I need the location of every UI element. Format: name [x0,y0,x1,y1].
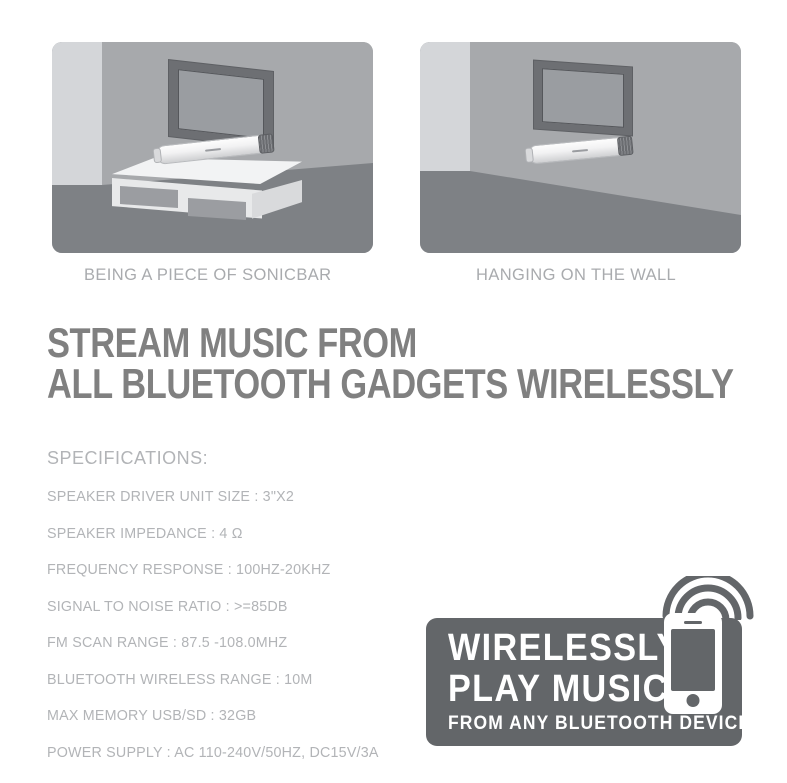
soundbar-left-cap [153,148,163,164]
stand-side-face [252,180,302,226]
spec-power-supply: POWER SUPPLY : AC 110-240V/50HZ, DC15V/3… [47,745,467,761]
smartphone-icon [664,613,722,714]
headline-line-1: STREAM MUSIC FROM [47,322,734,363]
room-scene-wall-mounted [420,42,741,253]
panel-caption-1: BEING A PIECE OF SONICBAR [84,266,331,285]
soundbar-right-cap [617,136,634,156]
tv-stand [112,158,302,236]
phone-home-button [687,694,700,707]
phone-screen [671,629,715,691]
illustration-panels: BEING A PIECE OF SONICBAR HANGING ON THE… [0,0,787,300]
spec-frequency-response: FREQUENCY RESPONSE : 100HZ-20KHZ [47,562,467,578]
badge-line-3: FROM ANY BLUETOOTH DEVICE [448,712,751,736]
specifications-section: SPECIFICATIONS: SPEAKER DRIVER UNIT SIZE… [47,448,467,781]
headline-line-2: ALL BLUETOOTH GADGETS WIRELESSLY [47,363,734,404]
panel-hanging-on-the-wall [420,42,741,253]
stand-top-surface [112,158,302,184]
spec-speaker-driver-unit-size: SPEAKER DRIVER UNIT SIZE : 3"X2 [47,489,467,505]
specifications-title: SPECIFICATIONS: [47,448,467,469]
badge-text-block: WIRELESSLY PLAY MUSIC FROM ANY BLUETOOTH… [448,628,777,736]
panel-caption-2: HANGING ON THE WALL [476,266,676,285]
soundbar-logo [205,148,221,152]
phone-earpiece [684,621,702,624]
television-icon [534,61,632,136]
spec-max-memory: MAX MEMORY USB/SD : 32GB [47,708,467,724]
spec-speaker-impedance: SPEAKER IMPEDANCE : 4 Ω [47,526,467,542]
spec-bluetooth-wireless-range: BLUETOOTH WIRELESS RANGE : 10M [47,672,467,688]
spec-signal-to-noise-ratio: SIGNAL TO NOISE RATIO : >=85DB [47,599,467,615]
soundbar-right-cap [258,133,275,154]
tv-screen [178,69,264,139]
panel-being-a-piece-of-sonicbar [52,42,373,253]
soundbar-left-cap [525,147,534,163]
soundbar-logo [572,149,588,153]
spec-fm-scan-range: FM SCAN RANGE : 87.5 -108.0MHZ [47,635,467,651]
room-scene-tv-stand [52,42,373,253]
tv-screen [542,68,624,128]
page-headline: STREAM MUSIC FROM ALL BLUETOOTH GADGETS … [47,322,734,404]
